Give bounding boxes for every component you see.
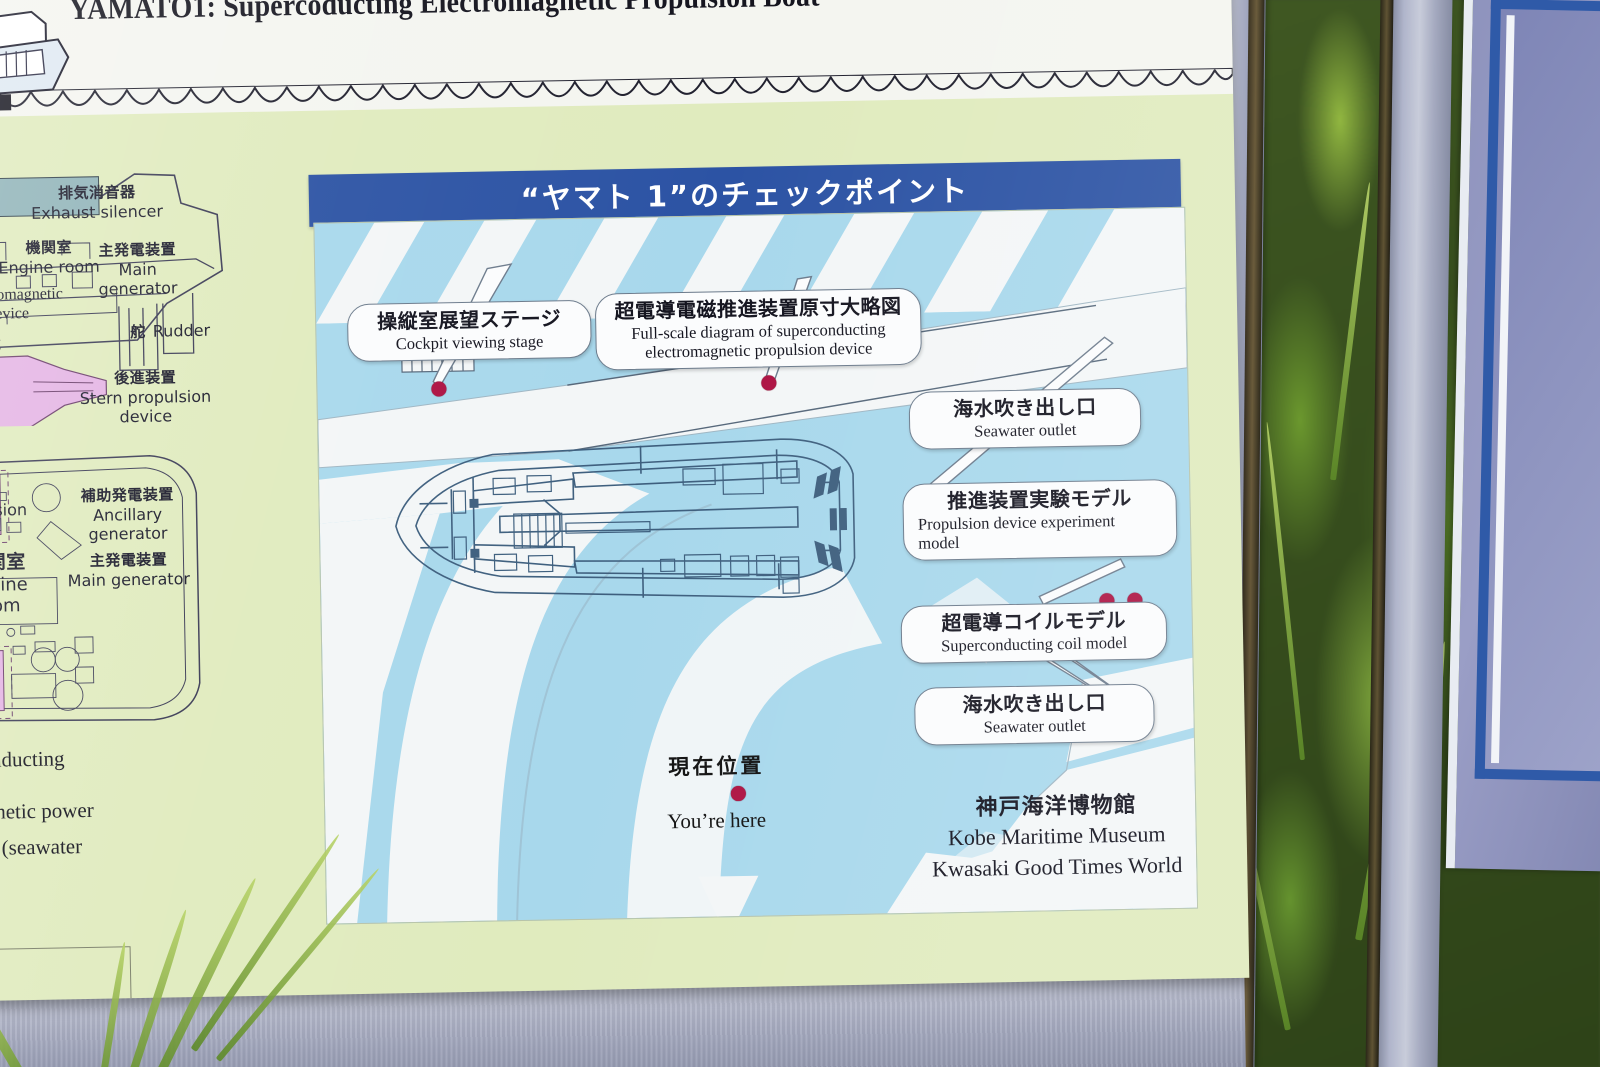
- label-stern-propulsion-device: 後進装置 Stern propulsion device: [60, 365, 231, 427]
- label-superconducting-device-side-en: rconducting electromagnetic propulsion d…: [0, 284, 97, 327]
- callout-seawater-outlet-top[interactable]: 海水吹き出し口 Seawater outlet: [909, 388, 1142, 450]
- callout-cockpit-viewing-stage[interactable]: 操縦室展望ステージ Cockpit viewing stage: [347, 300, 592, 362]
- label-exhaust-silencer-2: 排気消音器 Exhaust silencer: [11, 180, 184, 223]
- label-superconducting-device-side-jp: 超伝導電磁推進装置: [0, 329, 38, 356]
- museum-name-jp: 神戸海洋博物館: [921, 786, 1192, 823]
- label-superconducting-device-plan-1: 超伝導電磁推進装置 conducting electromagnetic lsi…: [0, 460, 55, 542]
- label-superconducting-device-plan-2: 超伝導電磁推進装置 nducting electromagnetic: [0, 642, 58, 705]
- you-are-here-label-jp: 現在位置: [668, 750, 765, 782]
- label-ancillary-generator: 補助発電装置 Ancillary generator: [52, 483, 203, 545]
- distant-sign-panel: [1446, 0, 1600, 872]
- museum-subtitle-en: Kwasaki Good Times World: [922, 849, 1193, 885]
- museum-name-en: Kobe Maritime Museum: [921, 818, 1192, 854]
- label-main-generator-side: 主発電装置 Main generator: [80, 238, 196, 299]
- distant-sign-white-frame: [1491, 15, 1600, 766]
- photo-scene: 速 電 導 … YAMATO1: Supercoducting Electrom…: [0, 0, 1600, 1067]
- distant-sign-blue-frame: [1475, 0, 1600, 782]
- you-are-here-label-en: You’re here: [667, 808, 766, 835]
- boat-icon: [0, 0, 83, 115]
- callout-seawater-outlet-bottom[interactable]: 海水吹き出し口 Seawater outlet: [914, 683, 1155, 745]
- information-sign-board: 速 電 導 … YAMATO1: Supercoducting Electrom…: [0, 0, 1249, 1002]
- museum-label: 神戸海洋博物館 Kobe Maritime Museum Kwasaki Goo…: [921, 786, 1193, 885]
- label-main-generator-plan: 主発電装置 Main generator: [63, 548, 194, 590]
- callout-superconducting-coil-model[interactable]: 超電導コイルモデル Superconducting coil model: [900, 601, 1167, 664]
- label-rudder: 舵 Rudder: [130, 320, 210, 342]
- body-paragraph-1: enerated by superconducting: [0, 737, 203, 782]
- label-engine-room-plan: 機関室 Engine room: [0, 547, 52, 618]
- callout-propulsion-line2: model: [918, 529, 1162, 552]
- callout-fullscale-line2: electromagnetic propulsion device: [611, 338, 907, 362]
- callout-fullscale-diagram[interactable]: 超電導電磁推進装置原寸大略図 Full-scale diagram of sup…: [595, 288, 922, 371]
- callout-propulsion-device-experiment-model[interactable]: 推進装置実験モデル Propulsion device experiment m…: [902, 479, 1177, 561]
